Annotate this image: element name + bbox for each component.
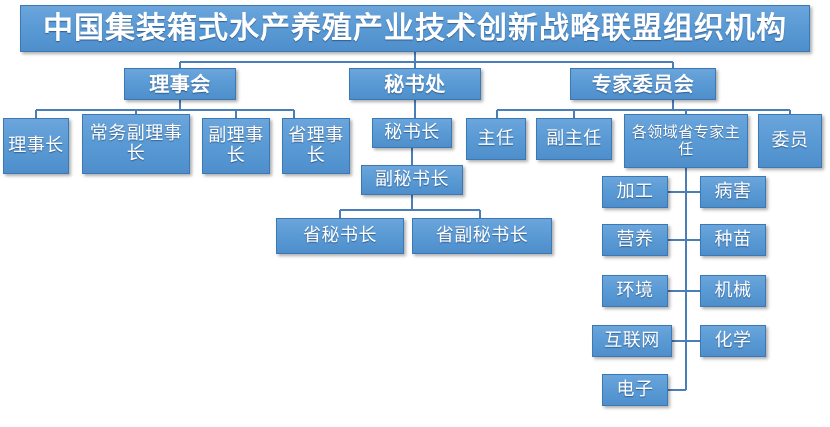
domain-environment[interactable]: 环境 [602, 275, 668, 307]
chart-title-box: 中国集装箱式水产养殖产业技术创新战略联盟组织机构 [20, 5, 810, 52]
board-member-vice-chairman[interactable]: 副理事长 [202, 118, 270, 174]
secretariat-secretary-general-label: 秘书长 [384, 123, 440, 143]
expert-director-label: 主任 [478, 129, 515, 149]
secretariat-provincial-secretary-general[interactable]: 省秘书长 [276, 218, 404, 254]
domain-chemistry-label: 化学 [715, 331, 752, 351]
secretariat-deputy-secretary-general-label: 副秘书长 [375, 170, 449, 190]
chart-title-label: 中国集装箱式水产养殖产业技术创新战略联盟组织机构 [43, 14, 787, 44]
division-board[interactable]: 理事会 [124, 68, 236, 100]
org-chart-canvas: 中国集装箱式水产养殖产业技术创新战略联盟组织机构 理事会 秘书处 专家委员会 理… [0, 0, 830, 427]
domain-internet-label: 互联网 [604, 331, 660, 351]
board-member-chairman-label: 理事长 [8, 136, 64, 156]
board-member-provincial-chairman[interactable]: 省理事长 [282, 118, 350, 174]
board-member-provincial-chairman-label: 省理事长 [285, 126, 347, 166]
division-expert-committee[interactable]: 专家委员会 [570, 68, 716, 100]
expert-committee-member-label: 委员 [772, 131, 809, 151]
secretariat-secretary-general[interactable]: 秘书长 [372, 118, 452, 148]
domain-chemistry[interactable]: 化学 [700, 325, 766, 357]
domain-processing[interactable]: 加工 [602, 176, 668, 208]
expert-director[interactable]: 主任 [466, 118, 526, 160]
domain-internet[interactable]: 互联网 [592, 325, 672, 357]
secretariat-provincial-deputy-secretary-general[interactable]: 省副秘书长 [412, 218, 552, 254]
expert-deputy-director[interactable]: 副主任 [536, 118, 612, 160]
expert-provincial-domain-director[interactable]: 各领域省专家主任 [624, 114, 748, 168]
board-member-executive-vice-chairman-label: 常务副理事长 [85, 124, 187, 164]
division-expert-committee-label: 专家委员会 [592, 73, 695, 95]
secretariat-provincial-deputy-secretary-general-label: 省副秘书长 [436, 226, 529, 246]
domain-disease[interactable]: 病害 [700, 176, 766, 208]
domain-environment-label: 环境 [617, 281, 654, 301]
division-secretariat[interactable]: 秘书处 [349, 68, 481, 100]
domain-electronics[interactable]: 电子 [602, 374, 668, 406]
board-member-chairman[interactable]: 理事长 [3, 118, 69, 174]
domain-seedling[interactable]: 种苗 [700, 224, 766, 256]
domain-seedling-label: 种苗 [715, 230, 752, 250]
expert-deputy-director-label: 副主任 [546, 129, 602, 149]
domain-electronics-label: 电子 [617, 380, 654, 400]
domain-processing-label: 加工 [617, 182, 654, 202]
domain-disease-label: 病害 [715, 182, 752, 202]
board-member-executive-vice-chairman[interactable]: 常务副理事长 [82, 114, 190, 174]
expert-provincial-domain-director-label: 各领域省专家主任 [627, 124, 745, 158]
division-secretariat-label: 秘书处 [384, 73, 446, 95]
domain-nutrition-label: 营养 [617, 230, 654, 250]
secretariat-deputy-secretary-general[interactable]: 副秘书长 [361, 165, 463, 195]
domain-machinery-label: 机械 [715, 281, 752, 301]
board-member-vice-chairman-label: 副理事长 [205, 126, 267, 166]
domain-machinery[interactable]: 机械 [700, 275, 766, 307]
connector-lines [0, 0, 830, 427]
division-board-label: 理事会 [149, 73, 211, 95]
expert-committee-member[interactable]: 委员 [758, 114, 822, 168]
secretariat-provincial-secretary-general-label: 省秘书长 [303, 226, 377, 246]
domain-nutrition[interactable]: 营养 [602, 224, 668, 256]
